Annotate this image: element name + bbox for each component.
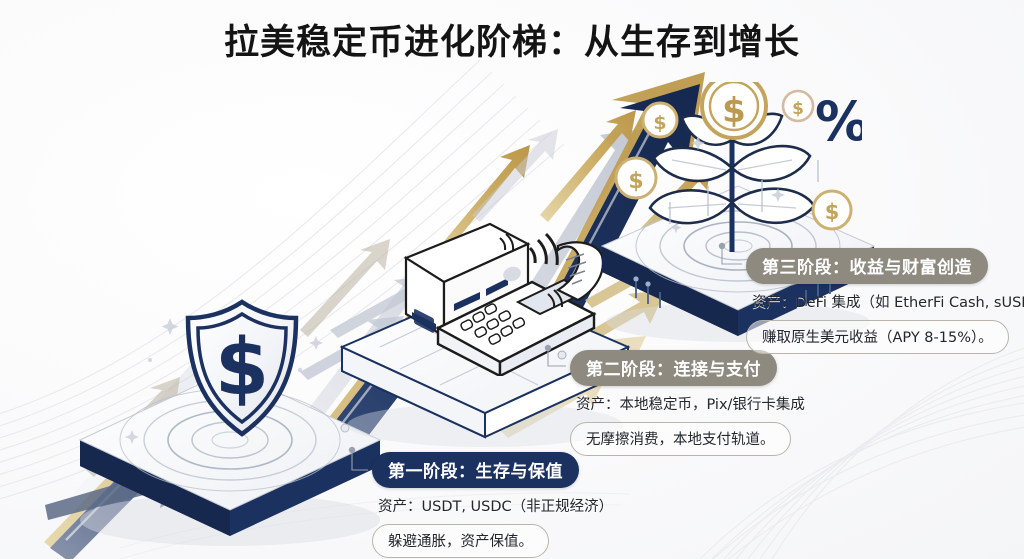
stage-3-pill[interactable]: 第三阶段：收益与财富创造 [746, 248, 988, 284]
stage-1-benefit-pill: 躲避通胀，资产保值。 [372, 524, 549, 558]
stage-3-label-block: 第三阶段：收益与财富创造 资产：DeFi 集成（如 EtherFi Cash, … [746, 248, 1024, 354]
stage-1-pill[interactable]: 第一阶段：生存与保值 [372, 452, 579, 488]
infographic-canvas: $ [0, 0, 1024, 559]
stage-3-asset-line: 资产：DeFi 集成（如 EtherFi Cash, sUSDe) [746, 291, 1024, 312]
stage-3-benefit-pill: 赚取原生美元收益（APY 8-15%）。 [746, 320, 1009, 354]
stage-2-benefit-pill: 无摩擦消费，本地支付轨道。 [570, 422, 791, 456]
stage-2-label-block: 第二阶段：连接与支付 资产：本地稳定币，Pix/银行卡集成 无摩擦消费，本地支付… [570, 350, 805, 456]
stage-1-label-block: 第一阶段：生存与保值 资产：USDT, USDC（非正规经济） 躲避通胀，资产保… [372, 452, 613, 558]
stage-2-pill[interactable]: 第二阶段：连接与支付 [570, 350, 777, 386]
stage-2-asset-line: 资产：本地稳定币，Pix/银行卡集成 [570, 393, 805, 414]
stage-1-asset-line: 资产：USDT, USDC（非正规经济） [372, 495, 613, 516]
